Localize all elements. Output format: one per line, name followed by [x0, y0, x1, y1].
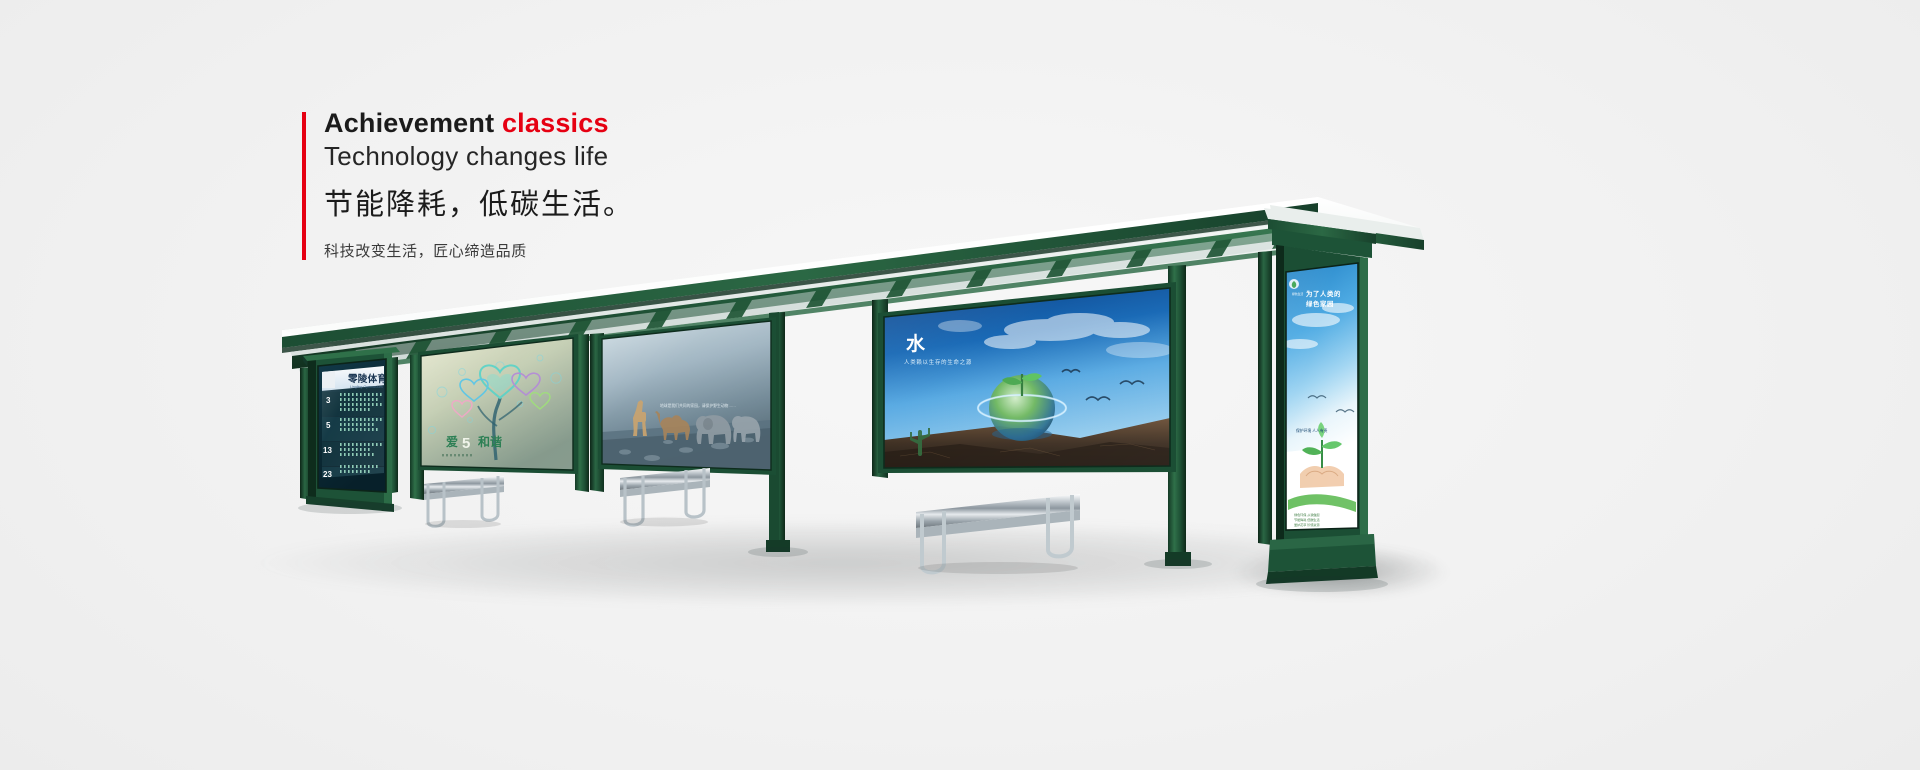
bench-2	[620, 468, 710, 527]
ad-panel-wildlife: 地球是我们共同的家园，请保护野生动物……	[598, 317, 776, 475]
bench-1	[424, 476, 504, 528]
showcase-stage: Achievement classics Technology changes …	[0, 0, 1920, 770]
vertical-light-box: 为了人类的 绿色家园 绿色生活 保护环境 人人有责 绿色环保 从我做起 节能降耗…	[1264, 208, 1378, 584]
bench-3	[916, 494, 1080, 574]
route-information-board: 零陵体育馆 Lingling Gymnasium 3 5 13 23	[303, 347, 400, 512]
ad-panel-heart-tree: 爱 5 和谐	[418, 334, 578, 474]
panel1-headline-tail: 和谐	[477, 434, 502, 449]
ad-panel-water: 水 人类赖以生存的生命之源	[878, 282, 1176, 473]
bus-shelter-illustration: 零陵体育馆 Lingling Gymnasium 3 5 13 23	[0, 0, 1920, 770]
panel1-headline-number: 5	[462, 435, 470, 452]
panel2-caption: 地球是我们共同的家园，请保护野生动物……	[660, 403, 736, 408]
panel1-headline: 爱	[446, 434, 458, 449]
